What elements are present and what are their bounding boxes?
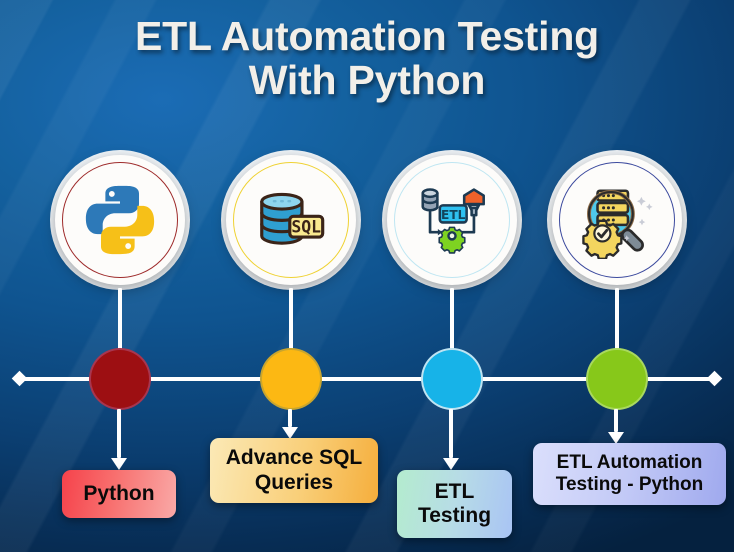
step-icon-circle-python[interactable] <box>55 155 185 285</box>
label-box-etl-automation-testing-python[interactable]: ETL Automation Testing - Python <box>533 443 726 505</box>
stem-etl <box>450 288 454 352</box>
python-logo-icon <box>81 181 159 259</box>
timeline-dot-etl-automation[interactable] <box>588 350 646 408</box>
sql-tag-text: SQL <box>291 217 321 236</box>
label-box-etl-testing[interactable]: ETL Testing <box>397 470 512 538</box>
etl-pipeline-icon: ETL <box>413 181 491 259</box>
arrow-etl <box>443 409 459 470</box>
label-text-advance-sql-line2: Queries <box>255 471 333 495</box>
step-icon-circle-etl-automation[interactable] <box>552 155 682 285</box>
label-text-etl-testing-line2: Testing <box>418 504 491 528</box>
timeline-dot-etl[interactable] <box>423 350 481 408</box>
etl-tag-text: ETL <box>441 208 466 222</box>
timeline-dot-sql[interactable] <box>262 350 320 408</box>
stem-python <box>118 288 122 352</box>
title-line-2: With Python <box>0 58 734 102</box>
data-testing-magnifier-icon <box>578 181 656 259</box>
title-line-1: ETL Automation Testing <box>0 14 734 58</box>
label-text-advance-sql-line1: Advance SQL <box>226 446 363 470</box>
sql-database-icon: SQL <box>252 181 330 259</box>
label-text-python: Python <box>83 482 154 506</box>
arrow-python <box>111 409 127 470</box>
arrow-sql <box>282 409 298 439</box>
stem-sql <box>289 288 293 352</box>
timeline-dot-python[interactable] <box>91 350 149 408</box>
page-title: ETL Automation Testing With Python <box>0 14 734 103</box>
step-icon-circle-etl[interactable]: ETL <box>387 155 517 285</box>
timeline-start-diamond <box>12 371 28 387</box>
stem-etl-automation <box>615 288 619 352</box>
label-box-advance-sql-queries[interactable]: Advance SQL Queries <box>210 438 378 503</box>
arrow-etl-automation <box>608 409 624 444</box>
timeline-end-diamond <box>707 371 723 387</box>
step-icon-circle-sql[interactable]: SQL <box>226 155 356 285</box>
label-text-etl-testing-line1: ETL <box>435 480 475 504</box>
label-text-etl-automation-line1: ETL Automation <box>557 452 703 474</box>
label-box-python[interactable]: Python <box>62 470 176 518</box>
infographic-canvas: ETL Automation Testing With Python <box>0 0 734 552</box>
label-text-etl-automation-line2: Testing - Python <box>556 474 703 496</box>
